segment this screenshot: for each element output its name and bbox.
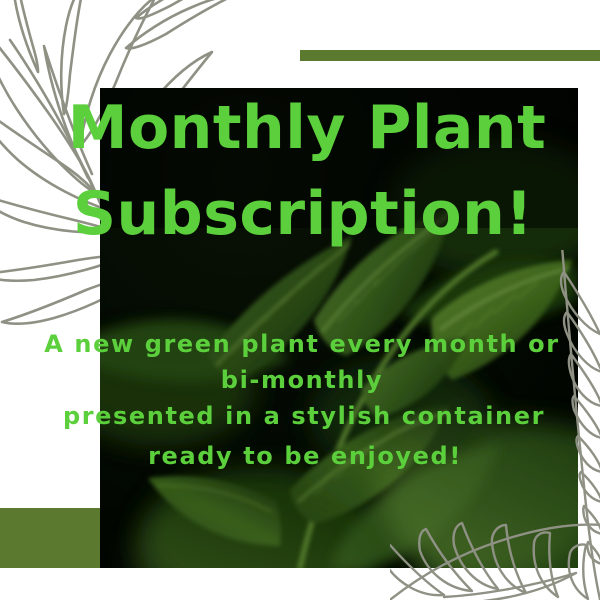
body-line-3: presented in a stylish container [0,404,600,428]
body-line-4: ready to be enjoyed! [0,444,600,468]
promo-poster: Monthly Plant Subscription! A new green … [0,0,600,600]
body-line-2: bi-monthly [0,368,600,392]
text-layer: Monthly Plant Subscription! A new green … [0,0,600,600]
headline-line-1: Monthly Plant [0,98,600,158]
headline-line-2: Subscription! [0,184,600,244]
body-line-1: A new green plant every month or [0,332,600,356]
